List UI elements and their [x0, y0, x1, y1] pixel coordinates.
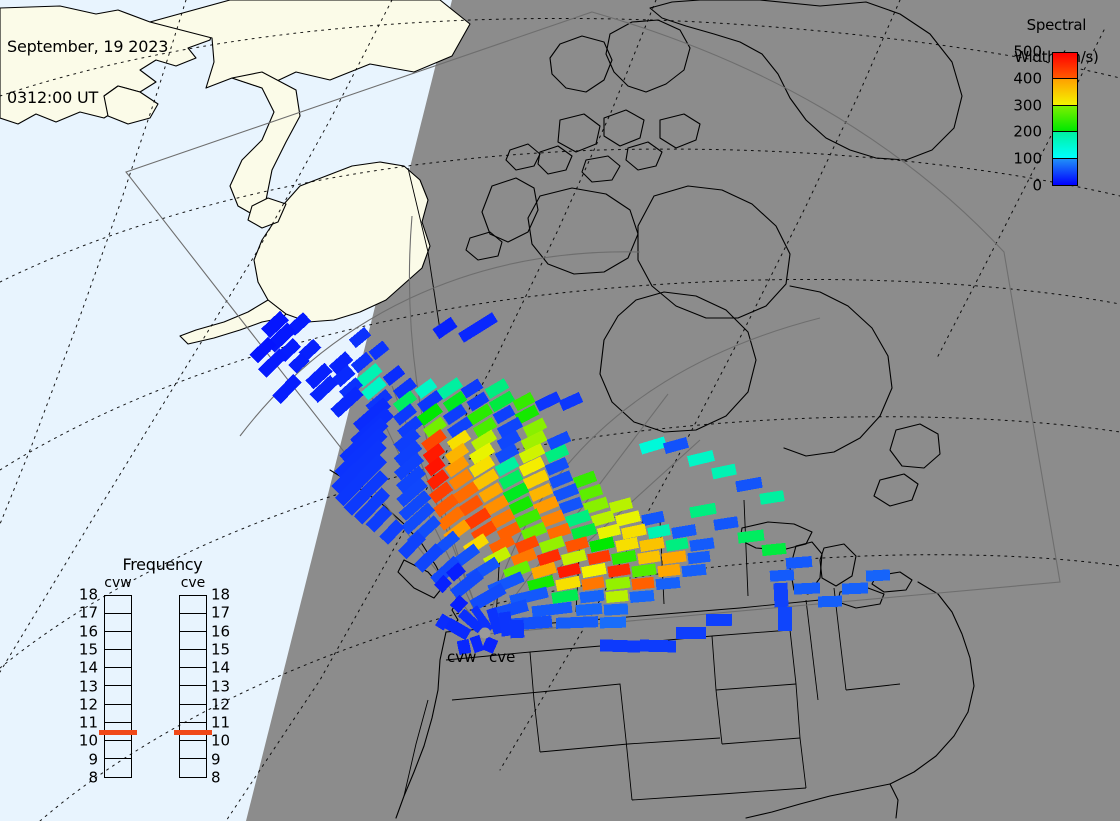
- colorbar-tick-label: 300: [1013, 98, 1042, 113]
- frequency-ticks-left: 18171615141312111098: [76, 595, 98, 778]
- frequency-tick-label: 17: [211, 606, 230, 621]
- frequency-row: [180, 705, 206, 723]
- frequency-tick-label: 15: [79, 642, 98, 657]
- frequency-row: [105, 668, 131, 686]
- colorbar-segment: [1053, 106, 1077, 132]
- frequency-row: [105, 596, 131, 614]
- colorbar-segment: [1053, 53, 1077, 79]
- frequency-title: Frequency: [80, 556, 245, 573]
- scatter-cell: [706, 614, 732, 627]
- radar-site-dot: [480, 628, 491, 639]
- colorbar-gradient: [1052, 52, 1078, 186]
- colorbar-segment: [1053, 79, 1077, 105]
- timestamp-date: September, 19 2023: [7, 38, 168, 55]
- site-label-cve: cve: [489, 650, 515, 665]
- timestamp: September, 19 2023 0312:00 UT: [7, 4, 168, 140]
- frequency-row: [180, 614, 206, 632]
- frequency-row: [180, 596, 206, 614]
- colorbar-tick-label: 0: [1032, 179, 1042, 194]
- frequency-tick-label: 10: [211, 734, 230, 749]
- frequency-row: [105, 705, 131, 723]
- scatter-cell: [762, 543, 787, 556]
- frequency-row: [180, 650, 206, 668]
- colorbar-tick-label: 400: [1013, 71, 1042, 86]
- frequency-row: [105, 759, 131, 777]
- colorbar-segment: [1053, 159, 1077, 185]
- scatter-cell: [600, 639, 640, 652]
- frequency-column-label-cvw: cvw: [98, 576, 138, 591]
- frequency-tick-label: 18: [79, 588, 98, 603]
- scatter-cell: [778, 607, 792, 631]
- frequency-tick-label: 9: [211, 752, 221, 767]
- frequency-tick-label: 16: [211, 624, 230, 639]
- frequency-row: [105, 686, 131, 704]
- frequency-panel: Frequency cvw cve 18171615141312111098 1…: [80, 556, 245, 788]
- frequency-tick-label: 15: [211, 642, 230, 657]
- scatter-cell: [631, 577, 654, 590]
- scatter-cell: [630, 590, 655, 603]
- site-label-cvw: cvw: [447, 650, 476, 665]
- frequency-tick-label: 18: [211, 588, 230, 603]
- frequency-bar-cvw[interactable]: [104, 595, 132, 778]
- superdarn-map-page: September, 19 2023 0312:00 UT Spectral W…: [0, 0, 1120, 821]
- frequency-row: [180, 741, 206, 759]
- frequency-tick-label: 13: [211, 679, 230, 694]
- frequency-row: [180, 686, 206, 704]
- scatter-cell: [794, 582, 820, 594]
- scatter-cell: [656, 577, 681, 590]
- scatter-cell: [676, 627, 706, 639]
- frequency-tick-label: 8: [88, 771, 98, 786]
- frequency-row: [180, 759, 206, 777]
- frequency-row: [105, 741, 131, 759]
- frequency-tick-label: 14: [211, 661, 230, 676]
- frequency-ticks-right: 18171615141312111098: [211, 595, 233, 778]
- frequency-tick-label: 10: [79, 734, 98, 749]
- frequency-marker-cve: [174, 730, 212, 735]
- scatter-cell: [773, 583, 788, 608]
- colorbar-title-line1: Spectral: [1027, 16, 1087, 34]
- timestamp-time: 0312:00 UT: [7, 89, 168, 106]
- frequency-tick-label: 11: [211, 716, 230, 731]
- scatter-cell: [818, 596, 842, 608]
- scatter-cell: [866, 569, 891, 581]
- frequency-tick-label: 9: [88, 752, 98, 767]
- frequency-tick-label: 13: [79, 679, 98, 694]
- frequency-tick-label: 8: [211, 771, 221, 786]
- scatter-cell: [600, 617, 626, 629]
- scatter-cell: [640, 640, 676, 653]
- colorbar-tick-label: 200: [1013, 125, 1042, 140]
- scatter-cell: [556, 616, 598, 629]
- frequency-row: [105, 614, 131, 632]
- frequency-tick-label: 12: [79, 697, 98, 712]
- frequency-row: [180, 632, 206, 650]
- scatter-cell: [576, 603, 603, 616]
- colorbar-tick-label: 100: [1013, 152, 1042, 167]
- scatter-cell: [786, 556, 813, 569]
- frequency-tick-label: 17: [79, 606, 98, 621]
- scatter-cell: [606, 590, 629, 603]
- colorbar-tick-label: 500: [1013, 45, 1042, 60]
- frequency-tick-label: 12: [211, 697, 230, 712]
- frequency-column-label-cve: cve: [173, 576, 213, 591]
- colorbar-panel: Spectral Width (m/s) 5004003002001000: [966, 0, 1120, 200]
- frequency-tick-label: 14: [79, 661, 98, 676]
- colorbar-segment: [1053, 132, 1077, 158]
- frequency-tick-label: 11: [79, 716, 98, 731]
- scatter-cell: [770, 569, 795, 582]
- frequency-marker-cvw: [99, 730, 137, 735]
- frequency-tick-label: 16: [79, 624, 98, 639]
- colorbar-ticks: 5004003002001000: [966, 52, 1046, 186]
- scatter-cell: [842, 582, 868, 594]
- frequency-row: [180, 668, 206, 686]
- scatter-cell: [604, 603, 629, 615]
- frequency-row: [105, 632, 131, 650]
- frequency-bar-cve[interactable]: [179, 595, 207, 778]
- scatter-cell: [510, 620, 525, 639]
- frequency-row: [105, 650, 131, 668]
